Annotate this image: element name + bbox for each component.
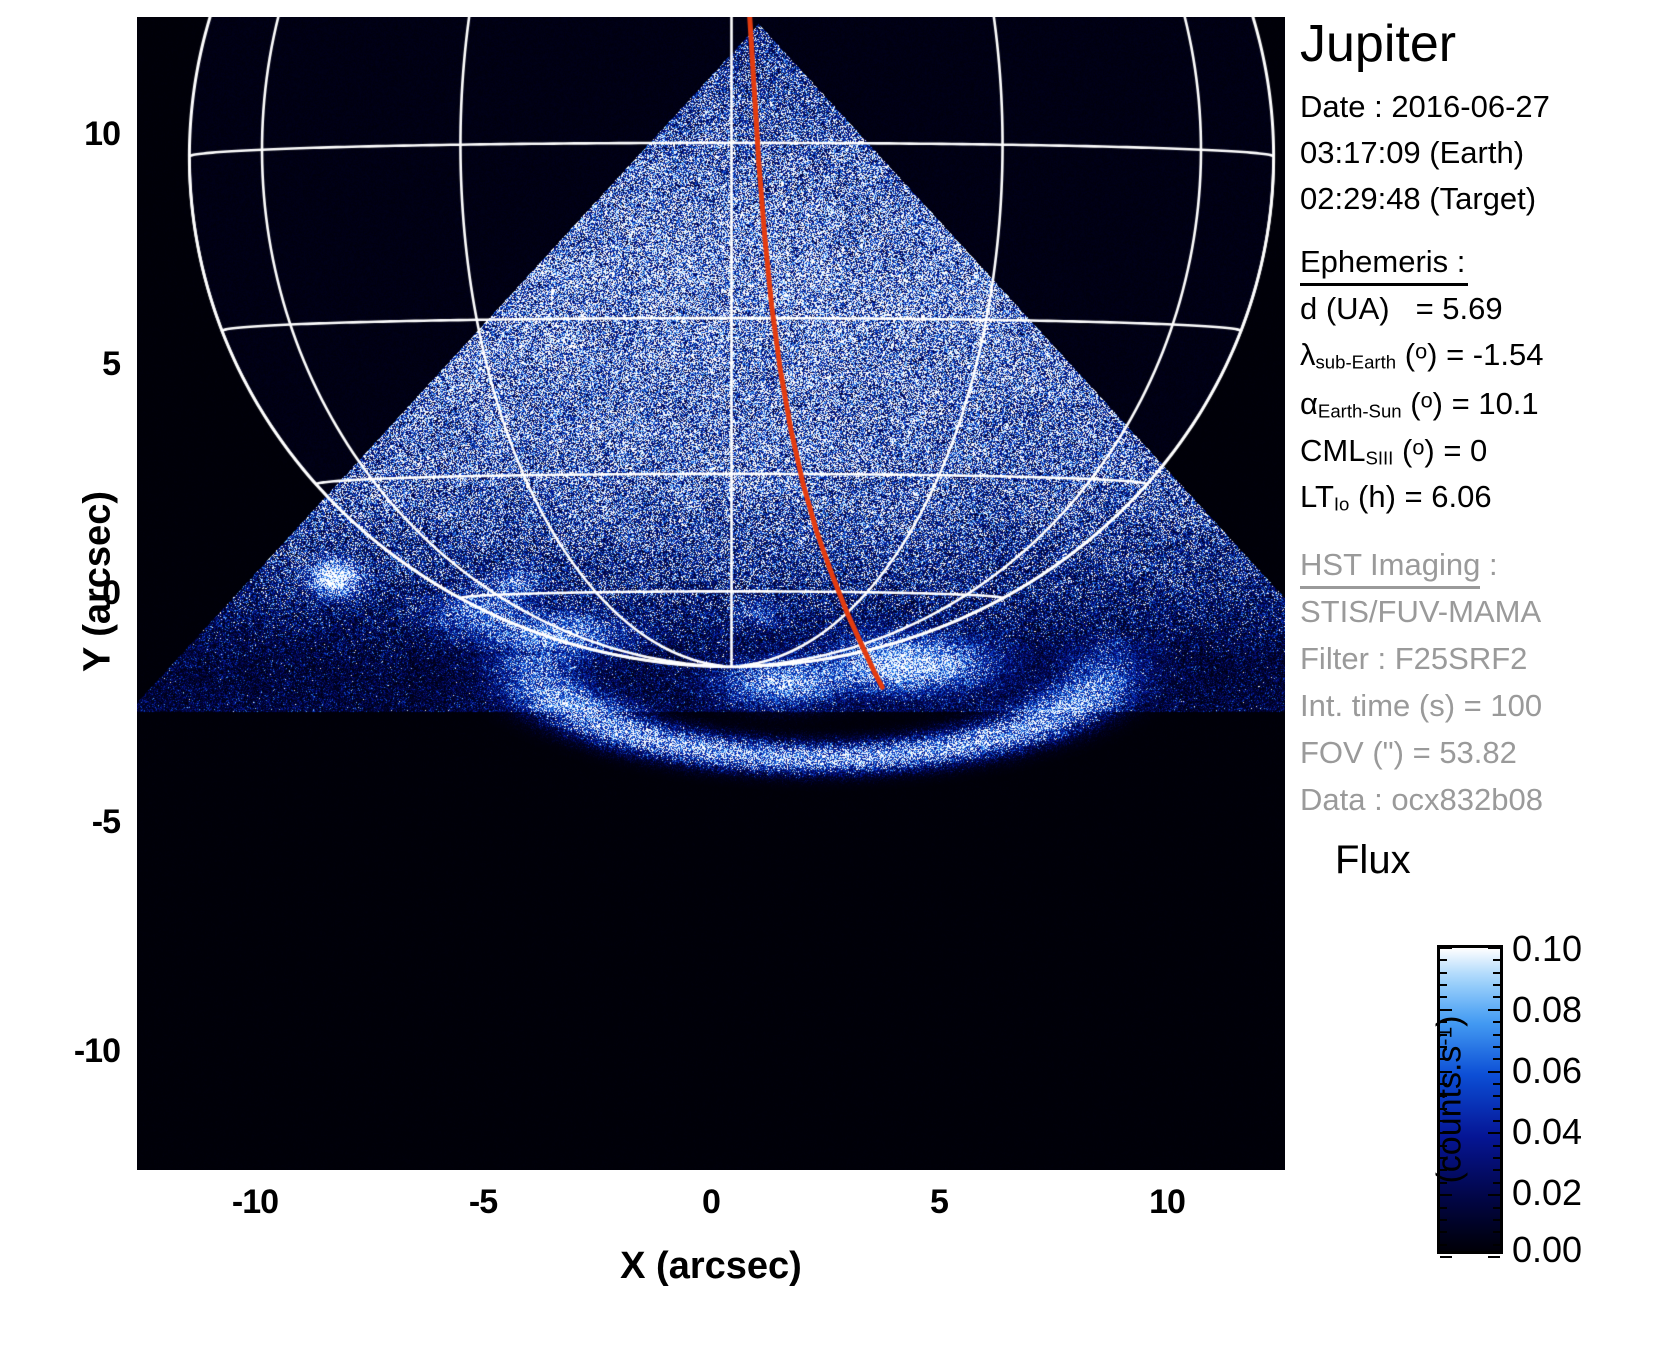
y-tick-10: 10 (10, 115, 120, 154)
x-tick-5: 5 (879, 1183, 999, 1222)
colorbar-tick (1493, 984, 1500, 986)
observation-date: Date : 2016-06-27 (1300, 89, 1550, 125)
x-tick-10: 10 (1107, 1183, 1227, 1222)
hst-instrument: STIS/FUV-MAMA (1300, 594, 1541, 630)
colorbar-tick (1493, 1058, 1500, 1060)
x-axis-title: X (arcsec) (137, 1245, 1285, 1288)
cml-unit-paren: (o) (1402, 433, 1435, 468)
hst-int-time: Int. time (s) = 100 (1300, 688, 1542, 724)
colorbar-tick (1493, 972, 1500, 974)
colorbar-unit-exponent: -1 (1434, 1027, 1457, 1046)
colorbar-unit-text: (counts.s (1431, 1046, 1469, 1184)
cml-subscript: SIII (1365, 447, 1393, 468)
colorbar-tick (1493, 1169, 1500, 1171)
colorbar-unit-close: ) (1431, 1015, 1469, 1026)
colorbar-label-008: 0.08 (1512, 989, 1582, 1031)
colorbar-tick (1493, 959, 1500, 961)
colorbar-tick (1488, 1194, 1500, 1196)
colorbar-title: Flux (1335, 838, 1411, 883)
lambda-subscript: sub-Earth (1316, 351, 1397, 372)
lambda-value: = -1.54 (1446, 337, 1543, 372)
ephemeris-distance-label: d (UA) (1300, 291, 1390, 326)
x-tick-m10: -10 (195, 1183, 315, 1222)
colorbar-label-002: 0.02 (1512, 1172, 1582, 1214)
jupiter-fuv-image (137, 17, 1285, 1170)
colorbar-tick (1493, 1083, 1500, 1085)
colorbar-tick (1488, 1009, 1500, 1011)
colorbar-label-010: 0.10 (1512, 928, 1582, 970)
colorbar-tick (1493, 1120, 1500, 1122)
colorbar-unit-label: (counts.s-1) (1431, 950, 1470, 1250)
colorbar-tick (1493, 1145, 1500, 1147)
colorbar-tick (1493, 1182, 1500, 1184)
x-tick-0: 0 (651, 1183, 771, 1222)
colorbar-tick (1493, 1219, 1500, 1221)
alpha-symbol: α (1300, 386, 1318, 421)
colorbar-tick (1493, 1095, 1500, 1097)
lambda-symbol: λ (1300, 337, 1316, 372)
lt-value: = 6.06 (1405, 479, 1492, 514)
colorbar-tick (1488, 1132, 1500, 1134)
observation-time-earth: 03:17:09 (Earth) (1300, 135, 1524, 171)
y-tick-5: 5 (10, 345, 120, 384)
colorbar-tick (1493, 1207, 1500, 1209)
ephemeris-heading: Ephemeris : (1300, 244, 1465, 280)
hst-filter: Filter : F25SRF2 (1300, 641, 1527, 677)
colorbar-tick (1440, 1256, 1452, 1258)
hst-imaging-heading: HST Imaging : (1300, 547, 1498, 583)
aurora-image-plot (137, 17, 1285, 1170)
y-tick-m5: -5 (10, 803, 120, 842)
observation-time-target: 02:29:48 (Target) (1300, 181, 1536, 217)
cml-label: CML (1300, 433, 1365, 468)
colorbar-tick (1493, 996, 1500, 998)
colorbar-tick (1493, 1108, 1500, 1110)
colorbar-label-006: 0.06 (1512, 1050, 1582, 1092)
target-name-title: Jupiter (1300, 14, 1456, 74)
alpha-subscript: Earth-Sun (1318, 400, 1402, 421)
colorbar-tick (1493, 1244, 1500, 1246)
alpha-value: = 10.1 (1452, 386, 1539, 421)
colorbar-tick (1493, 1046, 1500, 1048)
ephemeris-cml: CMLSIII (o) = 0 (1300, 433, 1487, 469)
hst-data-id: Data : ocx832b08 (1300, 782, 1543, 818)
hst-fov: FOV (") = 53.82 (1300, 735, 1517, 771)
ephemeris-distance-value: = 5.69 (1416, 291, 1503, 326)
alpha-unit-paren: (o) (1410, 386, 1443, 421)
ephemeris-io-local-time: LTIo (h) = 6.06 (1300, 479, 1492, 515)
colorbar-tick (1493, 1157, 1500, 1159)
ephemeris-heading-rule (1300, 283, 1468, 286)
colorbar-tick (1488, 1071, 1500, 1073)
y-tick-m10: -10 (10, 1032, 120, 1071)
colorbar-label-000: 0.00 (1512, 1229, 1582, 1271)
y-axis-title: Y (arcsec) (77, 432, 120, 732)
cml-value: = 0 (1443, 433, 1487, 468)
colorbar-tick (1493, 1034, 1500, 1036)
ephemeris-sub-earth-latitude: λsub-Earth (o) = -1.54 (1300, 337, 1543, 373)
hst-imaging-heading-rule (1300, 586, 1480, 589)
colorbar-tick (1493, 1021, 1500, 1023)
ephemeris-distance: d (UA)= 5.69 (1300, 291, 1503, 327)
colorbar-tick (1488, 1256, 1500, 1258)
colorbar-tick (1488, 947, 1500, 949)
ephemeris-phase-angle: αEarth-Sun (o) = 10.1 (1300, 386, 1539, 422)
lambda-unit-paren: (o) (1405, 337, 1438, 372)
lt-unit: (h) (1358, 479, 1396, 514)
lt-subscript: Io (1334, 493, 1350, 514)
lt-label: LT (1300, 479, 1334, 514)
colorbar-tick (1493, 1231, 1500, 1233)
x-tick-m5: -5 (423, 1183, 543, 1222)
colorbar-label-004: 0.04 (1512, 1111, 1582, 1153)
